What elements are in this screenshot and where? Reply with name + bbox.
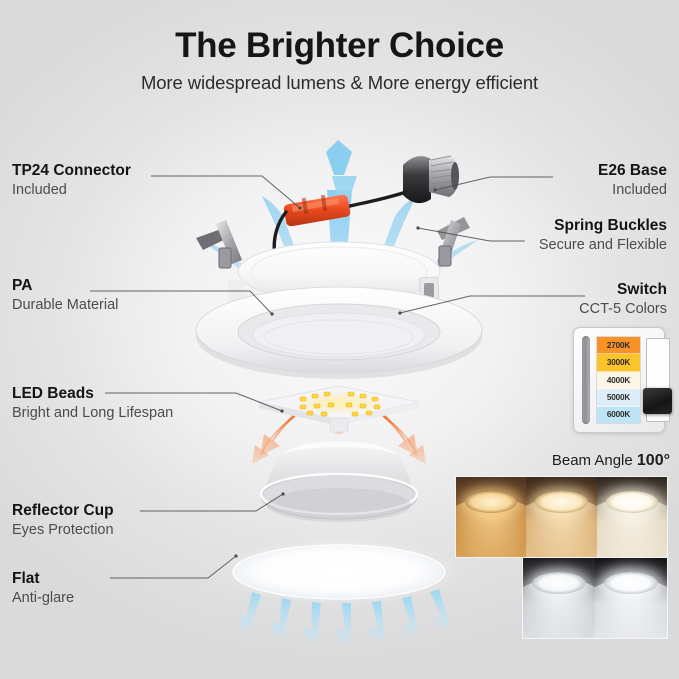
callout-led-beads: LED Beads Bright and Long Lifespan	[12, 384, 173, 423]
callout-subtitle: Included	[12, 181, 131, 200]
beam-angle-label: Beam Angle 100°	[430, 452, 670, 470]
beam-photo-row-warm	[455, 476, 668, 558]
callout-subtitle: Durable Material	[12, 296, 118, 315]
callout-reflector-cup: Reflector Cup Eyes Protection	[12, 501, 114, 540]
cct-option-2700k[interactable]: 2700K	[597, 337, 640, 354]
beam-angle-value: 100°	[637, 452, 670, 469]
spring-buckle-right	[437, 217, 470, 266]
cct-option-list: 2700K 3000K 4000K 5000K 6000K	[596, 336, 641, 424]
infographic-canvas: The Brighter Choice More widespread lume…	[0, 0, 679, 679]
cct-slider-knob[interactable]	[643, 388, 672, 414]
beam-photo-warm-2700k	[456, 477, 526, 557]
callout-subtitle: Secure and Flexible	[539, 236, 667, 255]
beam-photo-neutral-4000k	[597, 477, 667, 557]
callout-subtitle: Bright and Long Lifespan	[12, 404, 173, 423]
switch-mounting-rail	[582, 336, 590, 424]
callout-subtitle: CCT-5 Colors	[579, 300, 667, 319]
callout-subtitle: Included	[598, 181, 667, 200]
callout-pa-material: PA Durable Material	[12, 276, 118, 315]
beam-lamp-ring	[535, 491, 587, 513]
beam-photo-row-cool	[522, 557, 668, 639]
beam-angle-text: Beam Angle	[552, 452, 637, 469]
trim-ring-part	[196, 287, 482, 379]
callout-title: Switch	[579, 280, 667, 299]
cct-option-6000k[interactable]: 6000K	[597, 407, 640, 423]
callout-flat: Flat Anti-glare	[12, 569, 74, 608]
beam-photo-cool-5000k	[523, 558, 595, 638]
beam-lamp-ring	[465, 491, 517, 513]
beam-photo-cool-6000k	[595, 558, 667, 638]
callout-title: TP24 Connector	[12, 161, 131, 180]
callout-subtitle: Eyes Protection	[12, 521, 114, 540]
beam-photo-grid	[455, 476, 668, 639]
callout-e26-base: E26 Base Included	[598, 161, 667, 200]
flat-panel-part	[213, 538, 465, 606]
callout-subtitle: Anti-glare	[12, 589, 74, 608]
cct-switch-panel[interactable]: 2700K 3000K 4000K 5000K 6000K	[573, 327, 665, 433]
cct-option-4000k[interactable]: 4000K	[597, 372, 640, 389]
callout-spring-buckles: Spring Buckles Secure and Flexible	[539, 216, 667, 255]
callout-title: E26 Base	[598, 161, 667, 180]
beam-photo-warm-3000k	[526, 477, 596, 557]
beam-lamp-ring	[604, 572, 657, 594]
beam-lamp-ring	[606, 491, 658, 513]
cct-option-3000k[interactable]: 3000K	[597, 354, 640, 371]
cct-option-5000k[interactable]: 5000K	[597, 389, 640, 406]
reflector-cup-part	[261, 441, 417, 522]
cct-slider-zone[interactable]	[644, 336, 657, 424]
e26-base-part	[342, 155, 459, 208]
callout-title: PA	[12, 276, 118, 295]
callout-title: LED Beads	[12, 384, 173, 403]
callout-title: Flat	[12, 569, 74, 588]
callout-switch: Switch CCT-5 Colors	[579, 280, 667, 319]
callout-title: Spring Buckles	[539, 216, 667, 235]
callout-tp24-connector: TP24 Connector Included	[12, 161, 131, 200]
spring-buckle-left	[196, 220, 242, 268]
beam-lamp-ring	[532, 572, 585, 594]
callout-title: Reflector Cup	[12, 501, 114, 520]
